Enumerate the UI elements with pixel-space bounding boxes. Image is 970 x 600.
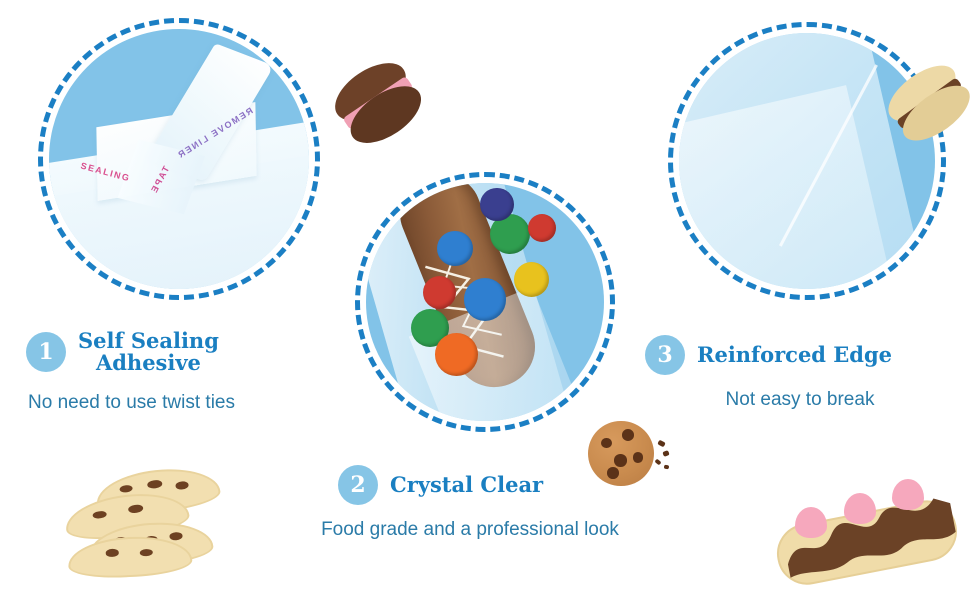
eclair-cream-swirl bbox=[795, 507, 827, 538]
cookie-chip bbox=[622, 429, 635, 441]
feature-block-3: 3 Reinforced Edge Not easy to break bbox=[645, 335, 945, 411]
feature-3-title: Reinforced Edge bbox=[697, 344, 892, 366]
step-badge-1: 1 bbox=[26, 332, 66, 372]
cookie-crumb bbox=[655, 458, 662, 465]
feature-3-subtitle: Not easy to break bbox=[665, 389, 935, 411]
photo-circle-self-sealing: SEALING TAPE REMOVE LINER bbox=[38, 18, 320, 300]
cookie-chip bbox=[139, 549, 153, 557]
cookie-chip bbox=[119, 485, 133, 494]
candy-dot bbox=[435, 333, 478, 376]
cookie-chip bbox=[633, 452, 644, 463]
sealing-tape-photo: SEALING TAPE REMOVE LINER bbox=[49, 29, 309, 289]
eclair-icon bbox=[772, 472, 962, 590]
feature-3-heading: 3 Reinforced Edge bbox=[645, 335, 945, 375]
eclair-cream-swirl bbox=[892, 479, 924, 510]
feature-2-title: Crystal Clear bbox=[390, 474, 543, 496]
candy-dot bbox=[464, 278, 507, 321]
photo-circle-reinforced-edge bbox=[668, 22, 946, 300]
cookie-crumb bbox=[662, 451, 669, 458]
cookie-chip bbox=[607, 467, 619, 478]
cookie-chip bbox=[92, 510, 106, 519]
step-badge-2: 2 bbox=[338, 465, 378, 505]
candy-dot bbox=[514, 262, 550, 298]
candy-dot bbox=[437, 231, 473, 267]
cookie-crumb bbox=[657, 439, 666, 447]
clear-bag-chocolate-treat-photo bbox=[366, 183, 604, 421]
cookie-stack-icon bbox=[58, 468, 230, 573]
feature-1-subtitle: No need to use twist ties bbox=[26, 392, 326, 414]
step-badge-3: 3 bbox=[645, 335, 685, 375]
cookie-chip bbox=[614, 454, 627, 466]
cookie-chip bbox=[147, 479, 162, 489]
feature-1-title: Self Sealing Adhesive bbox=[78, 330, 219, 374]
macaron-chocolate-icon bbox=[325, 52, 430, 155]
cookie-bitten-icon bbox=[588, 418, 672, 494]
cookie-chip bbox=[128, 504, 143, 514]
candy-dot bbox=[480, 188, 513, 221]
feature-block-1: 1 Self Sealing Adhesive No need to use t… bbox=[26, 330, 326, 414]
photo-circle-crystal-clear bbox=[355, 172, 615, 432]
reinforced-edge-film-photo bbox=[679, 33, 935, 289]
infographic-canvas: SEALING TAPE REMOVE LINER bbox=[0, 0, 970, 600]
cookie-chip bbox=[169, 531, 183, 539]
candy-dot bbox=[528, 214, 557, 243]
feature-2-subtitle: Food grade and a professional look bbox=[295, 519, 645, 541]
cookie-chip bbox=[106, 549, 120, 557]
feature-1-heading: 1 Self Sealing Adhesive bbox=[26, 330, 326, 374]
cookie-crumb bbox=[663, 465, 669, 470]
cookie-chip bbox=[175, 481, 189, 490]
